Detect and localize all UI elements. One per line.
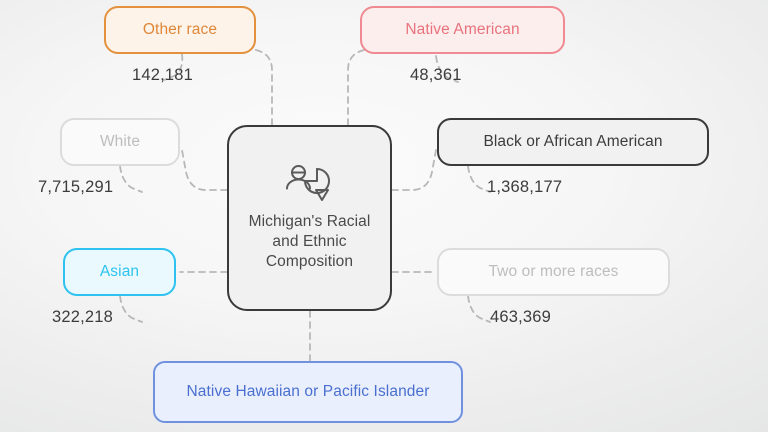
node-native-hawaiian-or-pacific-islander-label: Native Hawaiian or Pacific Islander (187, 383, 430, 402)
center-topic-label: Michigan's Racial and Ethnic Composition (239, 212, 380, 271)
count-black-or-african-american: 1,368,177 (487, 178, 562, 197)
node-native-hawaiian-or-pacific-islander[interactable]: Native Hawaiian or Pacific Islander (153, 361, 463, 423)
edge-black (392, 150, 436, 190)
node-two-or-more-races-label: Two or more races (488, 263, 618, 282)
node-white-label: White (100, 133, 140, 152)
count-native-american: 48,361 (410, 66, 462, 85)
count-other-race: 142,181 (132, 66, 193, 85)
leader-white (120, 166, 142, 192)
count-asian: 322,218 (52, 308, 113, 327)
edge-native-american (348, 48, 370, 125)
edge-other-race (250, 48, 272, 125)
count-white: 7,715,291 (38, 178, 113, 197)
center-topic-node[interactable]: Michigan's Racial and Ethnic Composition (227, 125, 392, 311)
node-black-or-african-american[interactable]: Black or African American (437, 118, 709, 166)
mind-map-canvas: Michigan's Racial and Ethnic Composition… (0, 0, 768, 432)
leader-asian (120, 296, 142, 322)
node-native-american-label: Native American (405, 21, 519, 40)
node-asian[interactable]: Asian (63, 248, 176, 296)
node-two-or-more-races[interactable]: Two or more races (437, 248, 670, 296)
node-native-american[interactable]: Native American (360, 6, 565, 54)
node-other-race[interactable]: Other race (104, 6, 256, 54)
count-two-or-more-races: 463,369 (490, 308, 551, 327)
people-pie-chart-icon (284, 164, 336, 202)
node-black-or-african-american-label: Black or African American (483, 133, 662, 152)
node-other-race-label: Other race (143, 21, 217, 40)
node-white[interactable]: White (60, 118, 180, 166)
node-asian-label: Asian (100, 263, 139, 282)
leader-two-or-more (468, 296, 490, 322)
edge-white (182, 150, 227, 190)
